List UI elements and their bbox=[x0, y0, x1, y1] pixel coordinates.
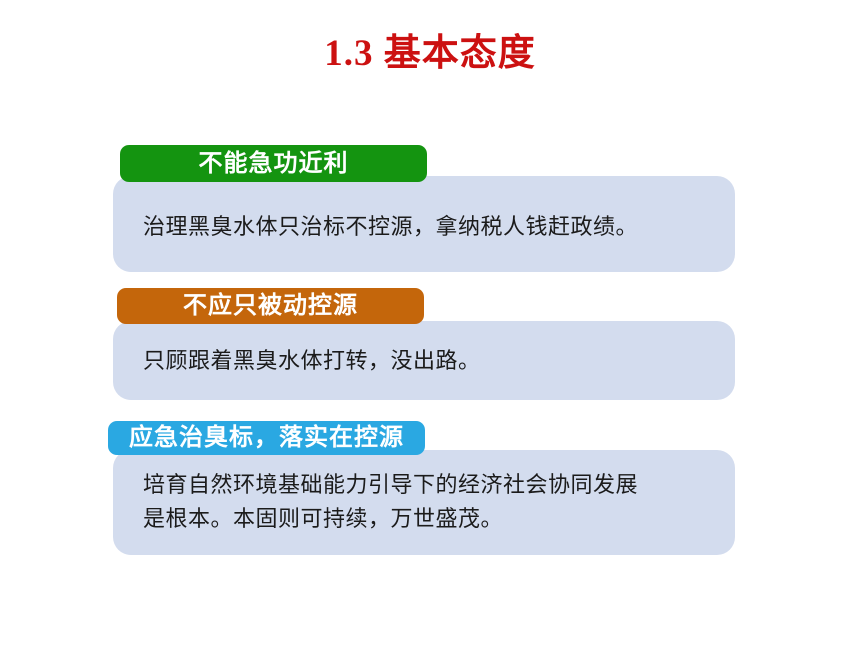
page-title: 1.3 基本态度 bbox=[0, 32, 860, 76]
section-tag-3: 应急治臭标，落实在控源 bbox=[108, 421, 425, 455]
body-text-1: 治理黑臭水体只治标不控源，拿纳税人钱赶政绩。 bbox=[143, 210, 733, 244]
slide-canvas: 1.3 基本态度 不能急功近利 治理黑臭水体只治标不控源，拿纳税人钱赶政绩。 不… bbox=[0, 0, 860, 645]
body-text-2: 只顾跟着黑臭水体打转，没出路。 bbox=[143, 344, 733, 378]
section-tag-1: 不能急功近利 bbox=[120, 145, 427, 182]
body-text-3: 培育自然环境基础能力引导下的经济社会协同发展 是根本。本固则可持续，万世盛茂。 bbox=[143, 468, 733, 536]
section-tag-2: 不应只被动控源 bbox=[117, 288, 424, 324]
